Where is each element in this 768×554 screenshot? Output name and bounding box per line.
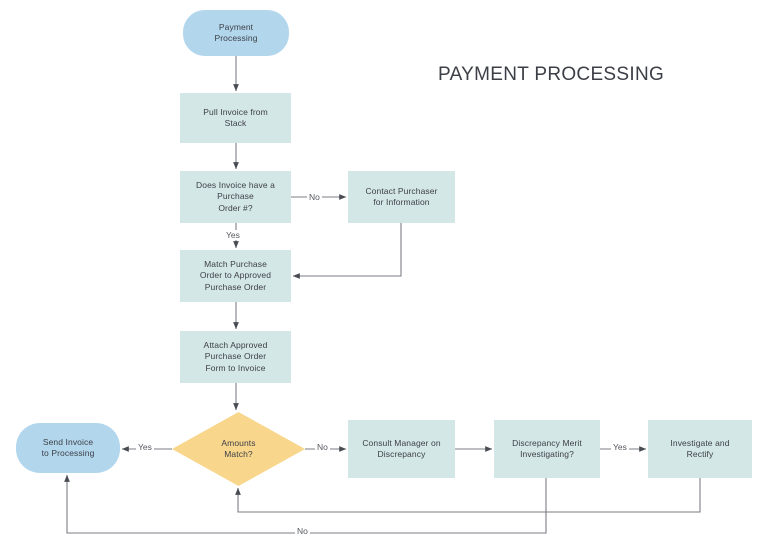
- node-shape-investigate-rectify[interactable]: [648, 420, 752, 478]
- connector-contact-to-match-po: [293, 223, 401, 276]
- node-shape-send-invoice[interactable]: [16, 423, 120, 473]
- node-shape-pull-invoice[interactable]: [180, 93, 291, 143]
- node-shape-match-purchase-order[interactable]: [180, 250, 291, 302]
- node-shape-contact-purchaser[interactable]: [348, 171, 455, 223]
- edge-label-has-po-yes: Yes: [224, 230, 242, 240]
- node-shape-consult-manager[interactable]: [348, 420, 455, 478]
- connector-merit-to-send: [67, 475, 546, 533]
- flowchart-canvas: Payment Processing Pull Invoice from Sta…: [0, 0, 768, 554]
- node-shape-start[interactable]: [183, 10, 289, 56]
- connector-investigate-to-amounts: [238, 478, 700, 512]
- edge-label-merit-no: No: [295, 526, 310, 536]
- edge-label-amounts-yes: Yes: [136, 442, 154, 452]
- edge-label-amounts-no: No: [315, 442, 330, 452]
- node-shape-amounts-match[interactable]: [172, 412, 305, 486]
- edge-label-merit-yes: Yes: [611, 442, 629, 452]
- page-title: PAYMENT PROCESSING: [438, 64, 664, 86]
- node-shape-has-purchase-order[interactable]: [180, 171, 291, 223]
- node-shape-discrepancy-merit[interactable]: [494, 420, 600, 478]
- edge-label-has-po-no: No: [307, 192, 322, 202]
- node-shape-attach-approved-form[interactable]: [180, 331, 291, 383]
